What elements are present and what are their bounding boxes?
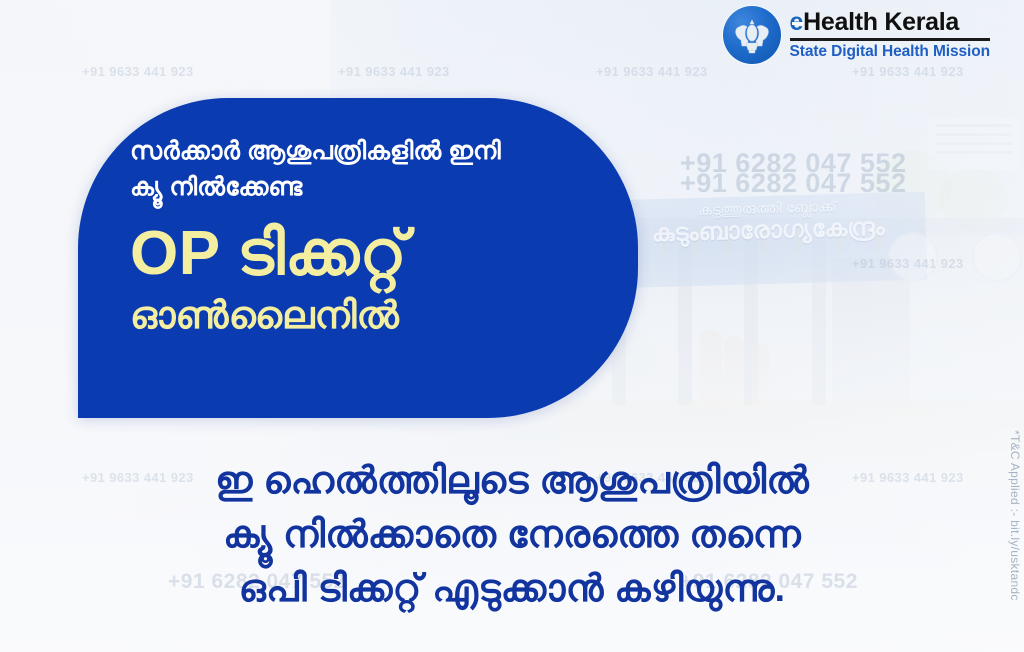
logo-divider: [790, 38, 990, 41]
banner-headline: OP ടിക്കറ്റ്: [130, 219, 604, 288]
bottom-message: ഇ ഹെൽത്തിലൂടെ ആശുപത്രിയിൽ ക്യൂ നിൽക്കാതെ…: [0, 455, 1024, 617]
logo-title-rest: Health Kerala: [803, 10, 959, 35]
terms-and-conditions-text: *T&C Applied :- bit.ly/usktandc: [1008, 430, 1022, 601]
logo-title-prefix: e: [790, 10, 804, 35]
bottom-message-line-3: ഒപി ടിക്കറ്റ് എടുക്കാൻ കഴിയുന്നു.: [0, 563, 1024, 617]
logo-text-block: eHealth Kerala State Digital Health Miss…: [790, 10, 990, 60]
banner-line-1: സർക്കാർ ആശുപത്രികളിൽ ഇനി: [130, 134, 604, 170]
banner-line-2: ക്യൂ നിൽക്കേണ്ട: [130, 170, 604, 206]
banner-line-3: ഓൺലൈനിൽ: [130, 294, 604, 340]
poster-canvas: കടുത്തുരുത്തി ബ്ലോക്ക് കുടുംബാരോഗ്യകേന്ദ…: [0, 0, 1024, 652]
bottom-message-line-2: ക്യൂ നിൽക്കാതെ നേരത്തെ തന്നെ: [0, 509, 1024, 563]
logo-subtitle: State Digital Health Mission: [790, 44, 990, 60]
kerala-government-emblem-icon: [723, 6, 781, 64]
bottom-message-line-1: ഇ ഹെൽത്തിലൂടെ ആശുപത്രിയിൽ: [0, 455, 1024, 509]
ehealth-kerala-logo: eHealth Kerala State Digital Health Miss…: [723, 6, 990, 64]
headline-banner-content: സർക്കാർ ആശുപത്രികളിൽ ഇനി ക്യൂ നിൽക്കേണ്ട…: [130, 134, 604, 340]
logo-title: eHealth Kerala: [790, 10, 990, 35]
headline-banner: സർക്കാർ ആശുപത്രികളിൽ ഇനി ക്യൂ നിൽക്കേണ്ട…: [78, 98, 638, 418]
